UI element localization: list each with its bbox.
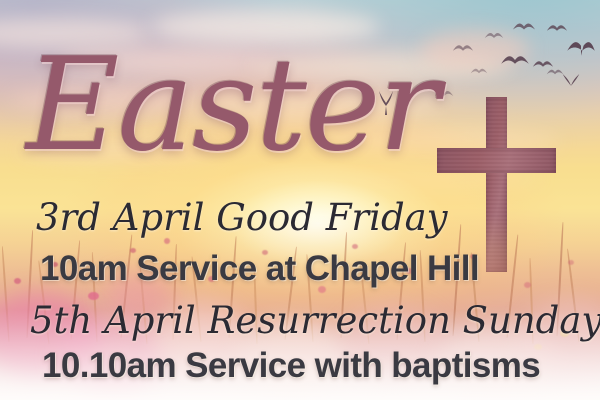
- bird-icon: [470, 66, 488, 76]
- resurrection-sunday-service-line: 10.10am Service with baptisms: [42, 346, 540, 386]
- bird-icon: [560, 72, 582, 87]
- good-friday-date-line: 3rd April Good Friday: [36, 196, 448, 239]
- bird-icon: [546, 22, 568, 34]
- bird-icon: [566, 36, 596, 58]
- bird-icon: [512, 20, 536, 33]
- good-friday-service-line: 10am Service at Chapel Hill: [40, 249, 479, 289]
- easter-service-poster: Easter 3rd April Good Friday 10am Servic…: [0, 0, 600, 400]
- page-title: Easter: [26, 42, 456, 170]
- bird-icon: [500, 52, 530, 68]
- resurrection-sunday-date-line: 5th April Resurrection Sunday: [30, 299, 600, 342]
- bird-icon: [484, 30, 504, 41]
